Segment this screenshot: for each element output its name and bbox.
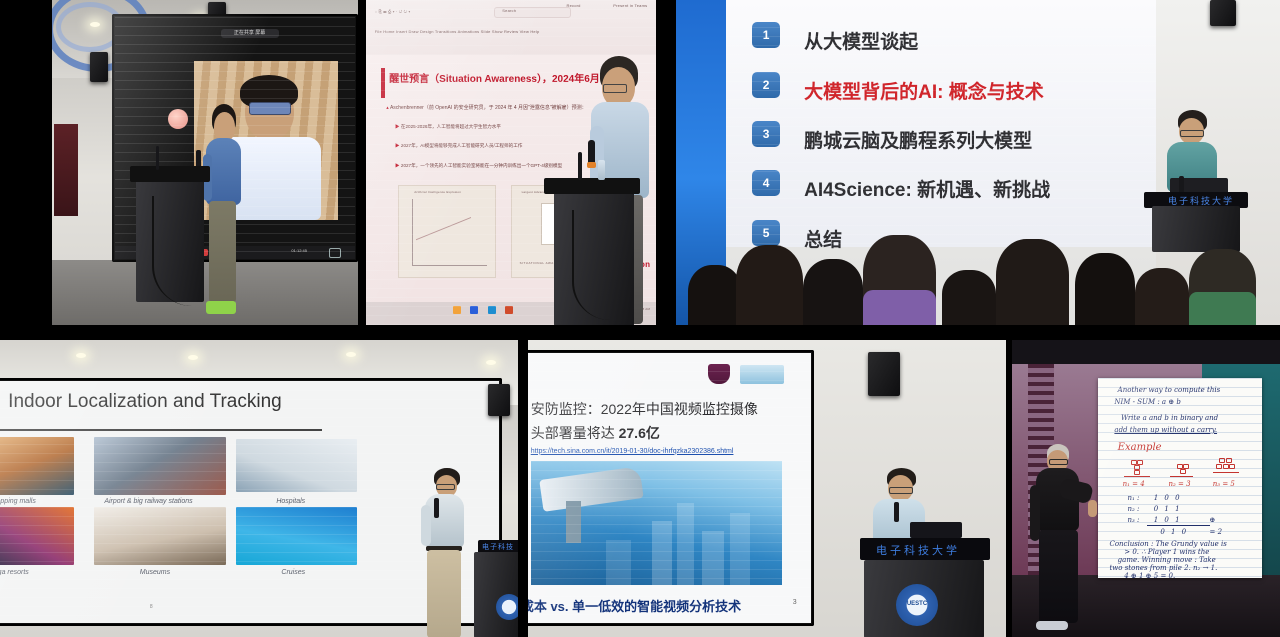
wb-binary-label-2: n₂ :: [1128, 505, 1140, 513]
university-crest-logo: [708, 364, 730, 384]
podium-top: [544, 178, 640, 194]
slide-footer-text: 高成本 vs. 单一低效的智能视频分析技术: [528, 596, 741, 615]
wb-pile-label-2: n₂ = 3: [1169, 480, 1191, 488]
figure-caption-0: Artificial Intelligence Explosion: [414, 190, 461, 194]
wb-line-1: NIM - SUM : a ⊕ b: [1114, 398, 1181, 406]
panel-nim-sum-whiteboard-lecture: Another way to compute this NIM - SUM : …: [1012, 340, 1280, 637]
slide-title: 醒世预言（Situation Awareness），2024年6月: [389, 70, 600, 85]
thumb-shopping-malls: [0, 437, 74, 495]
eyeglasses-icon: [1049, 459, 1068, 465]
door: [54, 124, 78, 216]
shoe: [206, 301, 236, 314]
wb-binary-label-3: n₃ :: [1128, 516, 1140, 524]
ppt-record-button[interactable]: Record: [567, 3, 581, 8]
wall-speaker-icon: [488, 384, 510, 416]
slide-headline-line1: 安防监控：2022年中国视频监控摄像: [531, 399, 758, 419]
panel-agenda-slide-lecture: 1 从大模型谈起 2 大模型背后的AI: 概念与技术 3 鹏城云脑及鹏程系列大模…: [676, 0, 1280, 325]
photo-collage: 正在共享 屏幕 01:12:45: [0, 0, 1280, 637]
title-underline: [0, 429, 322, 431]
eyeglasses-icon: [436, 484, 455, 490]
wb-result-value: = 2: [1210, 528, 1223, 536]
slide-bullet-2: ▶ 2027年，AI模型将能够完成人工智能研究人员/工程师的工作: [395, 143, 522, 149]
wb-sum-rule: [1147, 525, 1209, 526]
cctv-camera: [539, 467, 643, 513]
panel-video-conference-lecture: 正在共享 屏幕 01:12:45: [52, 0, 358, 325]
slide-bullet-0: ▴ Aschenbrenner（前 OpenAI 的安全研究员，于 2024 年…: [386, 104, 586, 111]
wb-pile-label-1: n₁ = 4: [1123, 480, 1145, 488]
thumb-cruises: [236, 507, 357, 565]
ppt-quick-access[interactable]: ◌ ⎘ ⌧ ⎙ ▾ · ↺ ↻ ▾: [375, 9, 411, 14]
lectern-emblem: [496, 594, 518, 620]
ppt-ribbon[interactable]: ◌ ⎘ ⌧ ⎙ ▾ · ↺ ↻ ▾ Search Record Present …: [366, 0, 656, 55]
presenter-figure: [198, 104, 258, 314]
agenda-text-4: AI4Science: 新机遇、新挑战: [804, 175, 1050, 202]
caption-hospitals: Hospitals: [276, 498, 305, 505]
slide-source-url[interactable]: https://tech.sina.com.cn/it/2019-01-30/d…: [531, 448, 734, 455]
wb-binary-bits-2: 0 1 1: [1154, 505, 1182, 513]
slide-bullet-3: ▶ 2027年，一个领先的人工智能实验室将能在一分钟内训练出一个GPT-4级别模…: [395, 163, 562, 169]
wb-line-2: Write a and b in binary and: [1121, 414, 1218, 422]
ai-institute-logo: [740, 365, 784, 384]
laptop: [910, 522, 962, 538]
wb-binary-label-1: n₁ :: [1128, 494, 1140, 502]
slide-headline-line2: 头部署量将达 27.6亿: [531, 423, 660, 443]
panel-indoor-localization-slide: Indoor Localization and Tracking Shoppin…: [0, 340, 518, 637]
agenda-text-2: 大模型背后的AI: 概念与技术: [804, 77, 1044, 104]
slide-title: Indoor Localization and Tracking: [8, 391, 282, 413]
thumb-mega-resorts: [0, 507, 74, 565]
participant-avatar: [168, 109, 188, 129]
wb-line-0: Another way to compute this: [1118, 386, 1221, 394]
ppt-search-placeholder: Search: [502, 8, 516, 13]
wb-xor-symbol: ⊕: [1210, 516, 1216, 524]
wb-example-label: Example: [1118, 442, 1162, 453]
gooseneck-microphone: [156, 146, 159, 170]
slide-bullet-1: ▶ 在2025-2026年，人工智能将超过大学生智力水平: [395, 124, 501, 130]
eyeglasses-icon: [603, 84, 627, 93]
wb-conclusion-4: 4 ⊕ 1 ⊕ 5 = 0.: [1124, 572, 1175, 580]
wb-result-bits: 0 1 0: [1160, 528, 1188, 536]
agenda-badge-3: 3: [752, 121, 780, 147]
cable: [572, 210, 610, 320]
agenda-text-1: 从大模型谈起: [804, 27, 918, 54]
presenter-trousers: [209, 201, 237, 304]
projection-screen: 1 从大模型谈起 2 大模型背后的AI: 概念与技术 3 鹏城云脑及鹏程系列大模…: [726, 0, 1160, 247]
agenda-badge-2: 2: [752, 72, 780, 98]
slide-image-cctv-city: [531, 461, 783, 585]
eyeglasses-icon: [889, 487, 913, 495]
wb-conclusion-0: Conclusion : The Grundy value is: [1109, 540, 1226, 548]
wb-binary-bits-1: 1 0 0: [1154, 494, 1182, 502]
agenda-badge-4: 4: [752, 170, 780, 196]
ceiling-band: [1012, 340, 1280, 364]
water-bottle: [598, 160, 605, 180]
slide-page-number: 8: [150, 604, 153, 610]
meeting-timer: 01:12:45: [291, 248, 307, 253]
wall-speaker-icon: [90, 52, 108, 82]
presenter-figure: [1026, 444, 1096, 630]
caption-museums: Museums: [140, 569, 170, 576]
ceiling-speaker-icon: [868, 352, 900, 396]
microphone-band: [587, 162, 596, 168]
projection-screen: 安防监控：2022年中国视频监控摄像 头部署量将达 27.6亿 https://…: [528, 350, 814, 626]
panel-powerpoint-situation-awareness: ◌ ⎘ ⌧ ⎙ ▾ · ↺ ↻ ▾ Search Record Present …: [366, 0, 656, 325]
handheld-microphone: [894, 502, 899, 522]
eyeglasses-icon: [1180, 130, 1204, 138]
slide-video-surveillance: 安防监控：2022年中国视频监控摄像 头部署量将达 27.6亿 https://…: [528, 353, 811, 623]
panel-video-surveillance-slide: 安防监控：2022年中国视频监控摄像 头部署量将达 27.6亿 https://…: [528, 340, 1006, 637]
agenda-badge-1: 1: [752, 22, 780, 48]
caption-airport-stations: Airport & big railway stations: [104, 498, 192, 505]
shoe: [1036, 621, 1068, 630]
pointing-hand: [1088, 500, 1097, 517]
presenter-trousers: [427, 550, 461, 637]
wb-binary-bits-3: 1 0 1: [1154, 516, 1182, 524]
caption-shopping-malls: Shopping malls: [0, 498, 36, 505]
wb-line-3: add them up without a carry.: [1114, 426, 1217, 434]
whiteboard: Another way to compute this NIM - SUM : …: [1098, 378, 1262, 578]
podium-top: [130, 166, 210, 182]
thumb-museums: [94, 507, 226, 565]
slide-page-number: 3: [793, 599, 797, 606]
caption-mega-resorts: Mega resorts: [0, 569, 29, 576]
thumb-hospitals: [236, 439, 357, 492]
presenter-trousers: [1039, 530, 1078, 623]
ceiling-speaker-icon: [1210, 0, 1236, 26]
ppt-menu-bar[interactable]: File Home Insert Draw Design Transitions…: [375, 29, 540, 34]
camera-arm: [566, 501, 581, 543]
lectern-emblem-text: UESTC: [900, 601, 934, 607]
sharing-status-pill: 正在共享 屏幕: [221, 29, 279, 38]
presenter-figure: [420, 468, 480, 637]
title-accent-bar: [381, 68, 385, 97]
gooseneck-microphone: [578, 152, 582, 180]
wb-pile-label-3: n₃ = 5: [1213, 480, 1235, 488]
wb-conclusion-1: > 0. ∴ Player 1 wins the: [1124, 548, 1209, 556]
wb-conclusion-3: two stones from pile 2. n₂ → 1.: [1109, 564, 1217, 572]
wb-conclusion-2: game. Winning move : Take: [1118, 556, 1216, 564]
audience-row: [676, 228, 1280, 326]
agenda-text-3: 鹏城云脑及鹏程系列大模型: [804, 126, 1032, 153]
thumb-airport-stations: [94, 437, 226, 495]
slide-figure-chart: Artificial Intelligence Explosion: [398, 185, 496, 278]
ppt-present-button[interactable]: Present in Teams: [613, 3, 647, 8]
lectern-text: 电子科技大学: [876, 542, 960, 558]
slide-headline-number: 27.6亿: [619, 425, 660, 441]
handheld-microphone: [434, 498, 439, 518]
caption-cruises: Cruises: [281, 569, 305, 576]
